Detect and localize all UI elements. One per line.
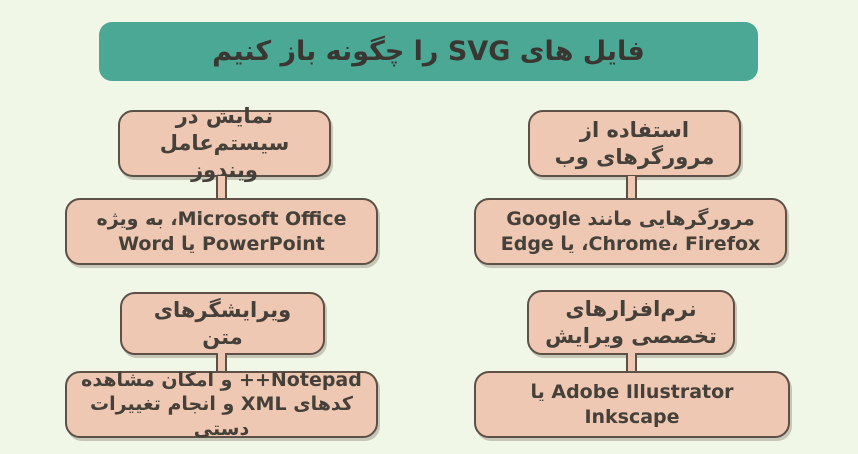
branch-heading-label: نرم‌افزارهای تخصصی ویرایش	[529, 296, 733, 350]
branch-heading-label: ویرایشگرهای متن	[122, 297, 323, 351]
branch-detail-label: مرورگرهایی مانند Google Chrome، Firefox،…	[476, 207, 785, 256]
page-title: فایل های SVG را چگونه باز کنیم	[212, 36, 645, 67]
branch-detail-web-browsers[interactable]: مرورگرهایی مانند Google Chrome، Firefox،…	[474, 198, 787, 265]
branch-heading-text-editors[interactable]: ویرایشگرهای متن	[120, 292, 325, 355]
branch-heading-label: استفاده از مرورگرهای وب	[530, 117, 739, 171]
connector-web-browsers	[626, 176, 637, 200]
branch-detail-label: Adobe Illustrator یا Inkscape	[476, 380, 788, 429]
title-banner: فایل های SVG را چگونه باز کنیم	[99, 22, 758, 81]
branch-detail-label: Notepad++ و امکان مشاهده کدهای XML و انج…	[67, 368, 376, 441]
branch-heading-windows-display[interactable]: نمایش در سیستم‌عامل ویندوز	[118, 110, 331, 177]
branch-heading-specialized-editors[interactable]: نرم‌افزارهای تخصصی ویرایش	[527, 290, 735, 355]
branch-detail-specialized-editors[interactable]: Adobe Illustrator یا Inkscape	[474, 371, 790, 438]
branch-detail-text-editors[interactable]: Notepad++ و امکان مشاهده کدهای XML و انج…	[65, 371, 378, 438]
branch-detail-label: Microsoft Office، به ویژه PowerPoint یا …	[67, 207, 376, 256]
connector-windows-display	[216, 176, 227, 200]
connector-specialized-editors	[626, 353, 637, 373]
branch-heading-web-browsers[interactable]: استفاده از مرورگرهای وب	[528, 110, 741, 177]
branch-heading-label: نمایش در سیستم‌عامل ویندوز	[120, 103, 329, 184]
branch-detail-windows-display[interactable]: Microsoft Office، به ویژه PowerPoint یا …	[65, 198, 378, 265]
infographic-canvas: فایل های SVG را چگونه باز کنیم نمایش در …	[0, 0, 858, 454]
